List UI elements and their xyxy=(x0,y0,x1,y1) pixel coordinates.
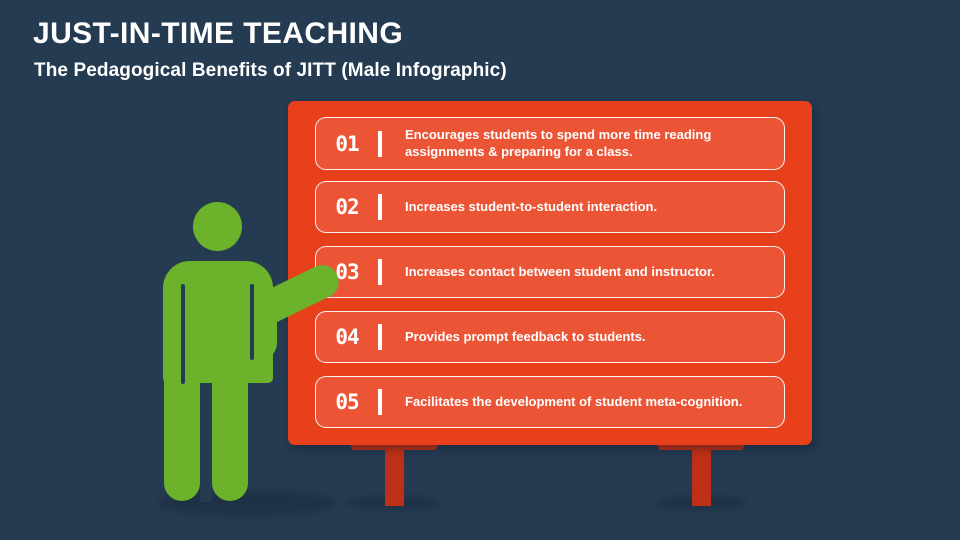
page-subtitle: The Pedagogical Benefits of JITT (Male I… xyxy=(34,60,507,82)
benefit-row-04[interactable]: 04 Provides prompt feedback to students. xyxy=(315,311,785,363)
page-title: JUST-IN-TIME TEACHING xyxy=(33,17,403,51)
benefit-text-03: Increases contact between student and in… xyxy=(382,264,727,281)
benefit-number-01: 01 xyxy=(316,132,378,156)
presenter-arm-slit-left xyxy=(181,284,185,384)
presenter-leg-right xyxy=(212,376,248,501)
benefit-row-03[interactable]: 03 Increases contact between student and… xyxy=(315,246,785,298)
benefit-text-05: Facilitates the development of student m… xyxy=(382,394,754,411)
benefit-row-02[interactable]: 02 Increases student-to-student interact… xyxy=(315,181,785,233)
benefit-text-04: Provides prompt feedback to students. xyxy=(382,329,658,346)
presenter-leg-left xyxy=(164,376,200,501)
presenter-figure-icon xyxy=(120,190,380,530)
benefit-row-01[interactable]: 01 Encourages students to spend more tim… xyxy=(315,117,785,170)
benefit-text-02: Increases student-to-student interaction… xyxy=(382,199,669,216)
infographic-slide: JUST-IN-TIME TEACHING The Pedagogical Be… xyxy=(0,0,960,540)
presenter-arm-slit-right xyxy=(250,284,254,360)
presenter-leg-gap xyxy=(200,370,212,502)
benefit-text-01: Encourages students to spend more time r… xyxy=(382,127,784,160)
presenter-head xyxy=(193,202,242,251)
presenter-torso xyxy=(163,261,273,383)
benefit-row-05[interactable]: 05 Facilitates the development of studen… xyxy=(315,376,785,428)
